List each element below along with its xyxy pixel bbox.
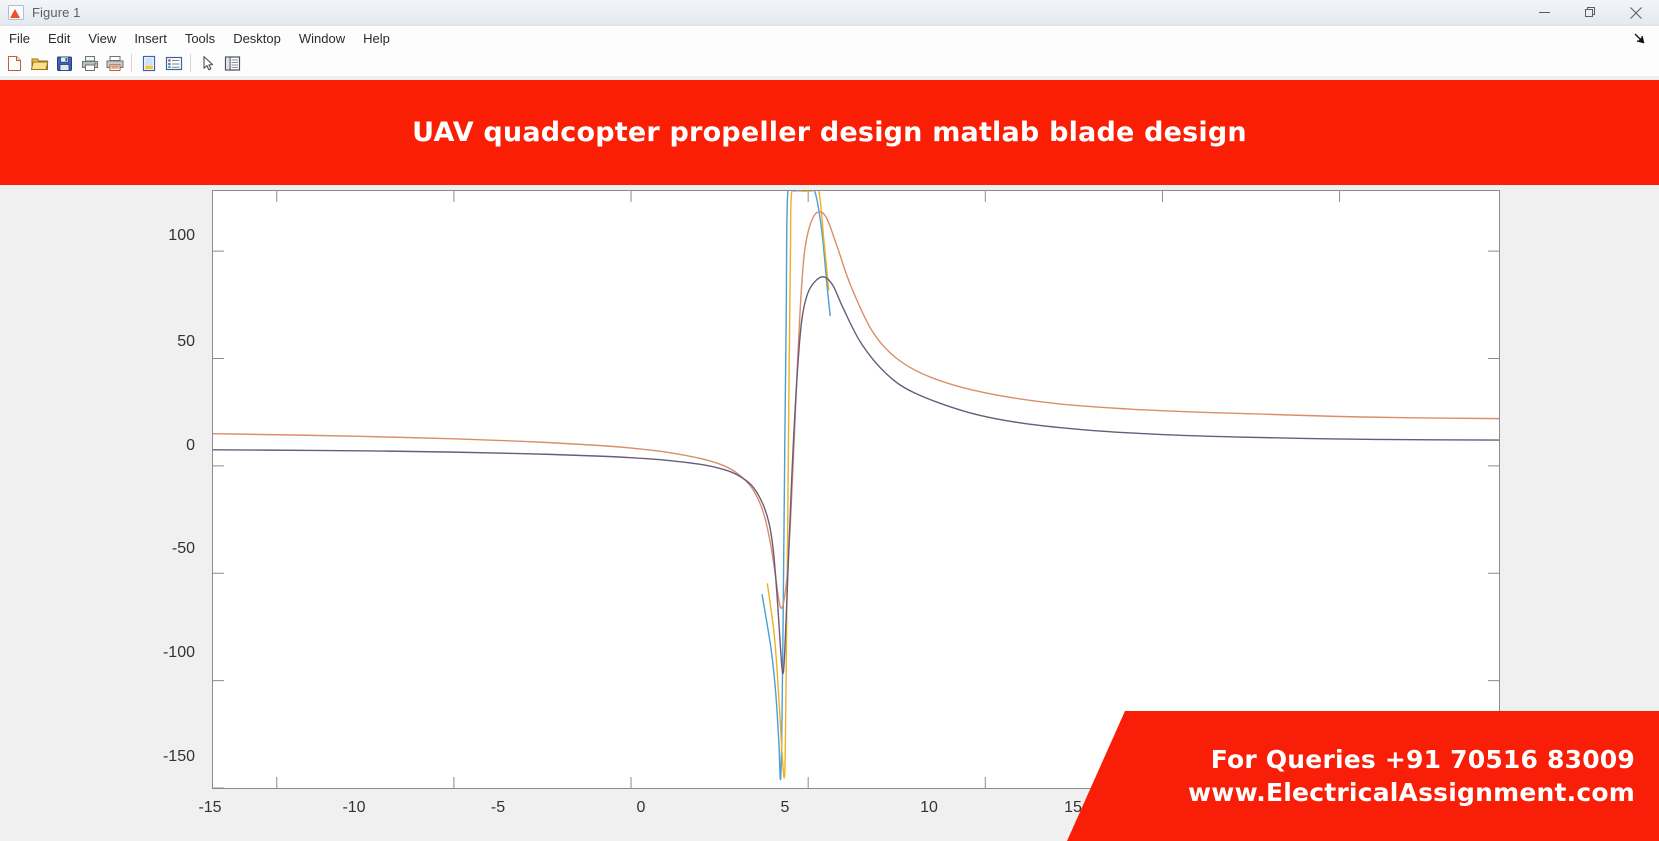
maximize-restore-button[interactable] — [1567, 0, 1613, 26]
xtick-label-5: 5 — [781, 799, 790, 817]
series-line — [762, 191, 830, 780]
series-line — [767, 191, 828, 778]
menu-file[interactable]: File — [0, 26, 39, 50]
title-bar: Figure 1 — [0, 0, 1659, 26]
matlab-figure-icon — [7, 4, 25, 22]
property-inspector-icon[interactable] — [220, 51, 245, 75]
menu-insert[interactable]: Insert — [125, 26, 176, 50]
save-floppy-icon[interactable] — [52, 51, 77, 75]
ytick-label-100: 100 — [168, 227, 195, 245]
xtick-label-10: 10 — [920, 799, 938, 817]
contact-phone: For Queries +91 70516 83009 — [1211, 745, 1635, 774]
window-title: Figure 1 — [32, 5, 1521, 20]
dock-arrow-icon[interactable] — [1627, 26, 1653, 50]
ytick-label-0: 0 — [186, 437, 195, 455]
promo-banner: UAV quadcopter propeller design matlab b… — [0, 80, 1659, 185]
toolbar-separator — [131, 54, 132, 72]
xtick-label-neg10: -10 — [342, 799, 365, 817]
open-folder-icon[interactable] — [27, 51, 52, 75]
ytick-label-neg150: -150 — [163, 748, 195, 766]
menu-bar: File Edit View Insert Tools Desktop Wind… — [0, 26, 1659, 50]
legend-icon[interactable] — [161, 51, 186, 75]
ytick-label-neg50: -50 — [172, 540, 195, 558]
new-document-icon[interactable] — [2, 51, 27, 75]
menu-window[interactable]: Window — [290, 26, 354, 50]
minimize-button[interactable] — [1521, 0, 1567, 26]
matlab-figure-window: Figure 1 File Edit View Insert — [0, 0, 1659, 841]
print-preview-icon[interactable] — [102, 51, 127, 75]
menu-tools[interactable]: Tools — [176, 26, 224, 50]
printer-icon[interactable] — [77, 51, 102, 75]
contact-overlay: For Queries +91 70516 83009 www.Electric… — [1067, 711, 1659, 841]
series-line — [213, 212, 1499, 609]
xtick-label-neg5: -5 — [491, 799, 505, 817]
contact-website: www.ElectricalAssignment.com — [1188, 778, 1635, 807]
colorbar-icon[interactable] — [136, 51, 161, 75]
tool-bar — [0, 50, 1659, 77]
series-line — [213, 277, 1499, 674]
menu-help[interactable]: Help — [354, 26, 399, 50]
arrow-pointer-icon[interactable] — [195, 51, 220, 75]
toolbar-separator — [190, 54, 191, 72]
plot-lines — [213, 191, 1499, 788]
menu-view[interactable]: View — [79, 26, 125, 50]
menu-edit[interactable]: Edit — [39, 26, 79, 50]
plot-axes[interactable] — [212, 190, 1500, 789]
ytick-label-50: 50 — [177, 333, 195, 351]
ytick-label-neg100: -100 — [163, 644, 195, 662]
window-controls — [1521, 0, 1659, 26]
close-button[interactable] — [1613, 0, 1659, 26]
menu-desktop[interactable]: Desktop — [224, 26, 290, 50]
xtick-label-neg15: -15 — [198, 799, 221, 817]
promo-banner-text: UAV quadcopter propeller design matlab b… — [412, 117, 1247, 148]
xtick-label-0: 0 — [637, 799, 646, 817]
